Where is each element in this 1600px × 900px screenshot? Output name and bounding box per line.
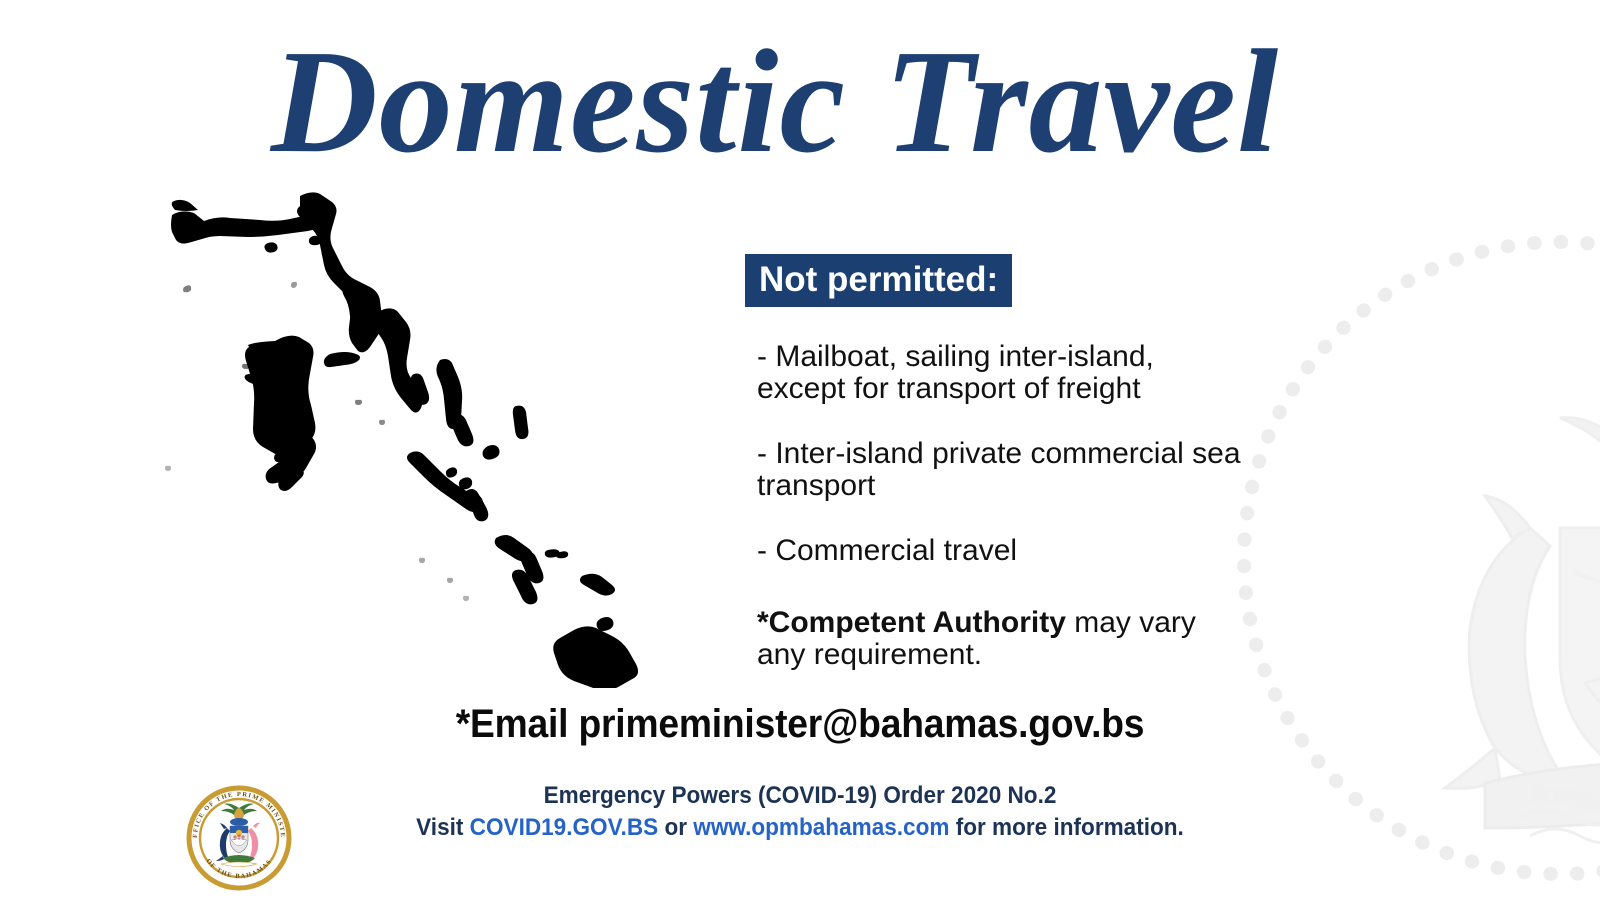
competent-authority-note: *Competent Authority may vary any requir… [745, 607, 1237, 672]
office-of-prime-minister-seal: OFFICE OF THE PRIME MINISTER OF THE BAHA… [183, 782, 295, 894]
page-title: Domestic Travel [200, 22, 1350, 182]
map-islands [165, 192, 638, 688]
competent-authority-label: *Competent Authority [757, 606, 1066, 639]
covid19-gov-bs-link[interactable]: COVID19.GOV.BS [470, 814, 658, 841]
email-contact-line: *Email primeminister@bahamas.gov.bs [56, 702, 1544, 747]
not-permitted-panel: Not permitted: - Mailboat, sailing inter… [745, 254, 1265, 671]
footer-visit-prefix: Visit [416, 814, 470, 841]
footer-visit-suffix: for more information. [949, 814, 1183, 841]
footer-visit-mid: or [658, 814, 693, 841]
not-permitted-heading: Not permitted: [745, 254, 1012, 307]
list-item: - Mailboat, sailing inter-island, except… [745, 341, 1247, 404]
not-permitted-list: - Mailboat, sailing inter-island, except… [745, 341, 1265, 567]
opmbahamas-com-link[interactable]: www.opmbahamas.com [693, 814, 949, 841]
list-item: - Commercial travel [745, 535, 1247, 567]
list-item: - Inter-island private commercial sea tr… [745, 438, 1247, 501]
watermark-crest: FORWARD UPWARD [1445, 358, 1600, 846]
watermark-dotted-circle [1244, 242, 1600, 874]
bahamas-map-silhouette [150, 178, 720, 688]
